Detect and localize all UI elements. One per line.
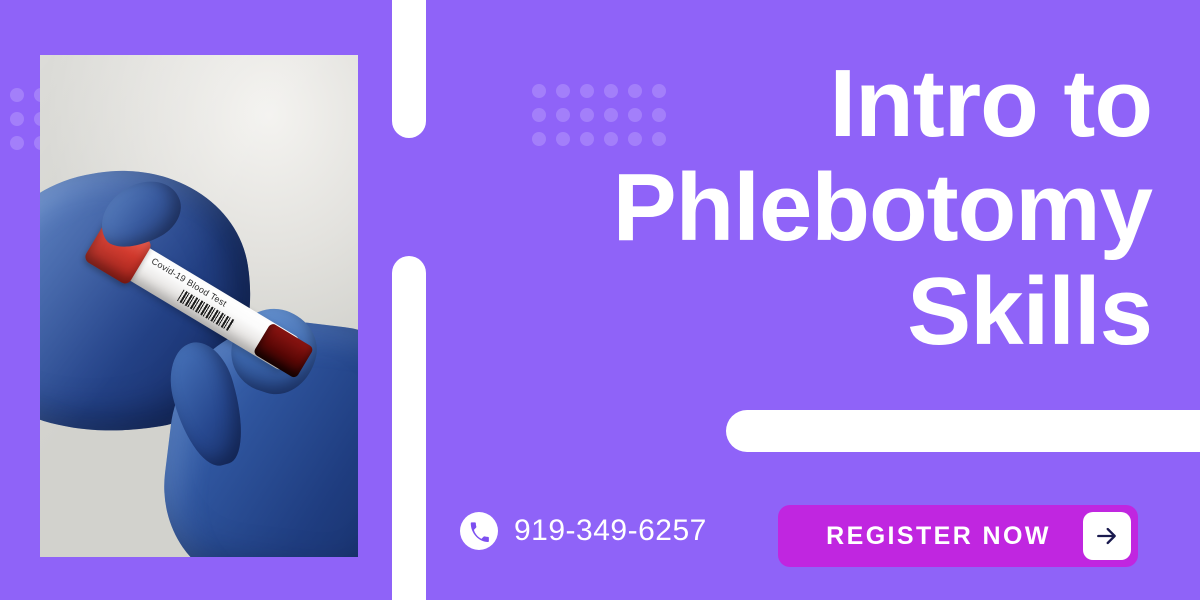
phone-icon xyxy=(460,512,498,550)
white-bar-right-decoration xyxy=(726,410,1200,452)
phlebotomy-photo: Covid-19 Blood Test xyxy=(40,55,358,557)
event-banner: Covid-19 Blood Test Intro to Phlebotomy … xyxy=(0,0,1200,600)
title-line-2: Phlebotomy xyxy=(440,156,1152,260)
register-now-button[interactable]: REGISTER NOW xyxy=(778,505,1138,567)
arrow-right-icon[interactable] xyxy=(1083,512,1131,560)
register-now-label: REGISTER NOW xyxy=(778,522,1083,551)
white-bar-bottom-decoration xyxy=(392,256,426,600)
dot xyxy=(10,112,24,126)
title-line-1: Intro to xyxy=(440,52,1152,156)
phone-number-text: 919-349-6257 xyxy=(514,514,707,548)
title-line-3: Skills xyxy=(440,260,1152,364)
dot xyxy=(10,88,24,102)
page-title: Intro to Phlebotomy Skills xyxy=(440,52,1152,364)
contact-phone[interactable]: 919-349-6257 xyxy=(460,512,707,550)
white-bar-top-decoration xyxy=(392,0,426,138)
dot xyxy=(10,136,24,150)
